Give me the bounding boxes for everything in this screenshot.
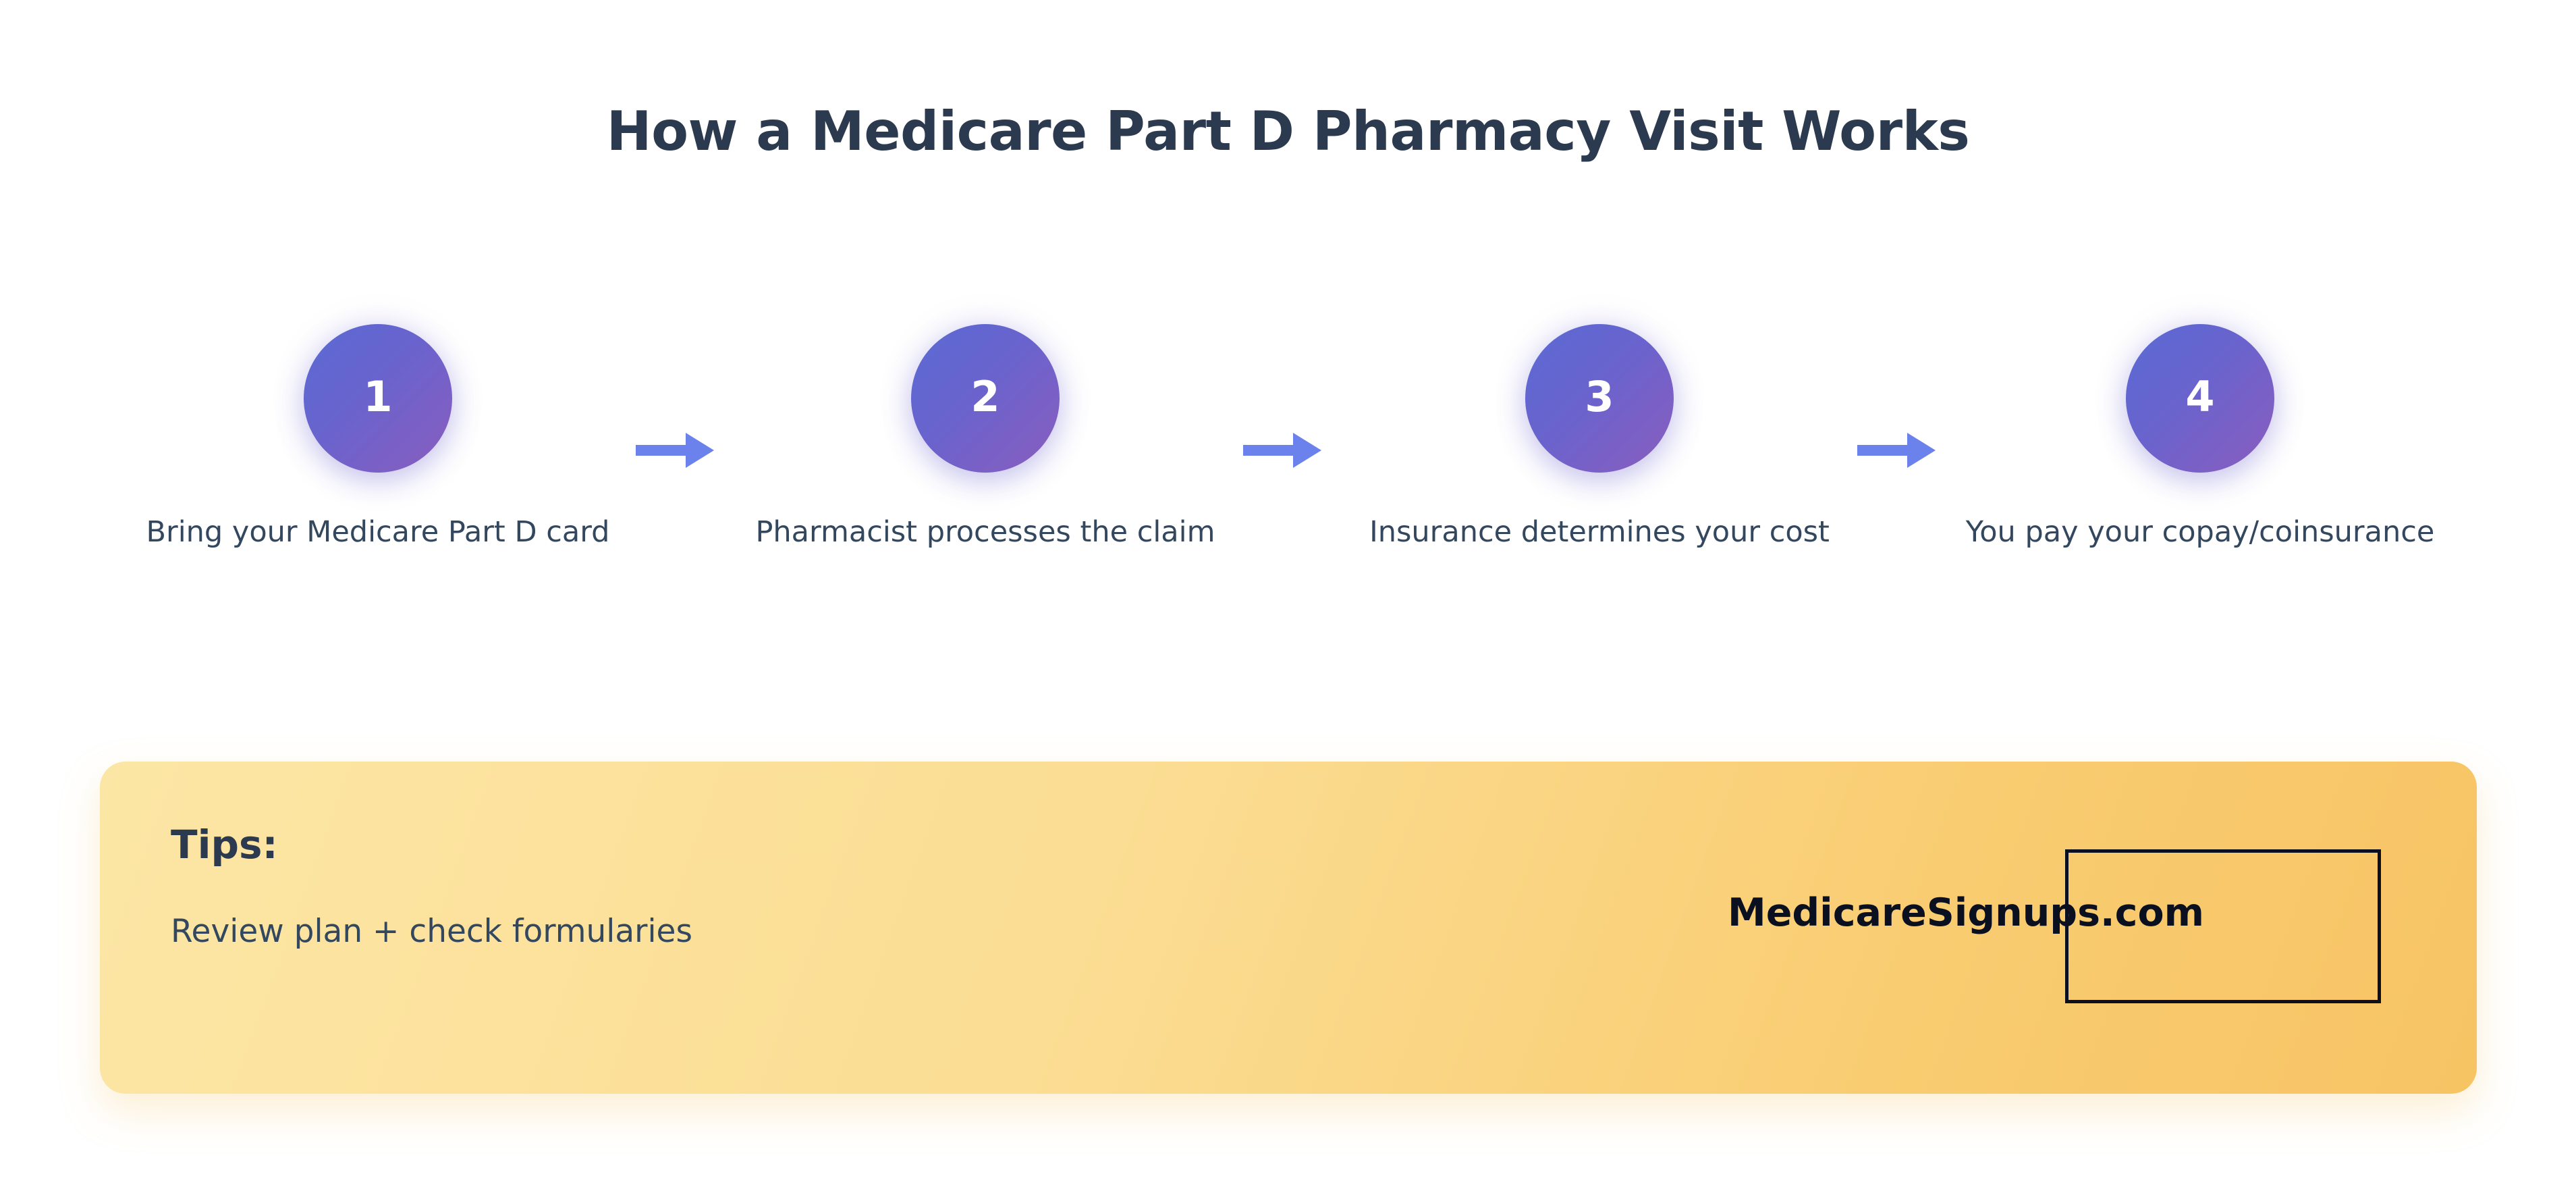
step-3-label: Insurance determines your cost bbox=[1363, 512, 1836, 553]
arrow-right-icon bbox=[634, 430, 715, 471]
step-4: 4 You pay your copay/coinsurance bbox=[1950, 307, 2450, 553]
step-1-number: 1 bbox=[363, 376, 392, 418]
tips-heading: Tips: bbox=[171, 824, 1655, 867]
brand-wordmark: MedicareSignups.com bbox=[1728, 894, 2204, 932]
tips-body-text: Review plan + check formularies bbox=[171, 913, 1655, 951]
step-1-circle: 1 bbox=[304, 324, 452, 473]
step-2-label: Pharmacist processes the claim bbox=[749, 512, 1222, 553]
step-1: 1 Bring your Medicare Part D card bbox=[128, 307, 628, 553]
tips-text-block: Tips: Review plan + check formularies bbox=[171, 824, 1655, 951]
tips-panel: Tips: Review plan + check formularies Me… bbox=[100, 762, 2477, 1094]
page-title: How a Medicare Part D Pharmacy Visit Wor… bbox=[0, 100, 2576, 163]
step-4-number: 4 bbox=[2185, 376, 2214, 418]
step-4-label: You pay your copay/coinsurance bbox=[1964, 512, 2436, 553]
step-2-circle: 2 bbox=[911, 324, 1060, 473]
arrow-right-icon bbox=[1242, 430, 1323, 471]
step-1-label: Bring your Medicare Part D card bbox=[142, 512, 614, 553]
step-3-number: 3 bbox=[1585, 376, 1614, 418]
steps-row: 1 Bring your Medicare Part D card 2 Phar… bbox=[0, 307, 2576, 658]
arrow-right-icon bbox=[1856, 430, 1937, 471]
step-3: 3 Insurance determines your cost bbox=[1350, 307, 1849, 553]
step-2-number: 2 bbox=[970, 376, 999, 418]
step-3-circle: 3 bbox=[1525, 324, 1674, 473]
step-4-circle: 4 bbox=[2126, 324, 2274, 473]
step-2: 2 Pharmacist processes the claim bbox=[736, 307, 1235, 553]
